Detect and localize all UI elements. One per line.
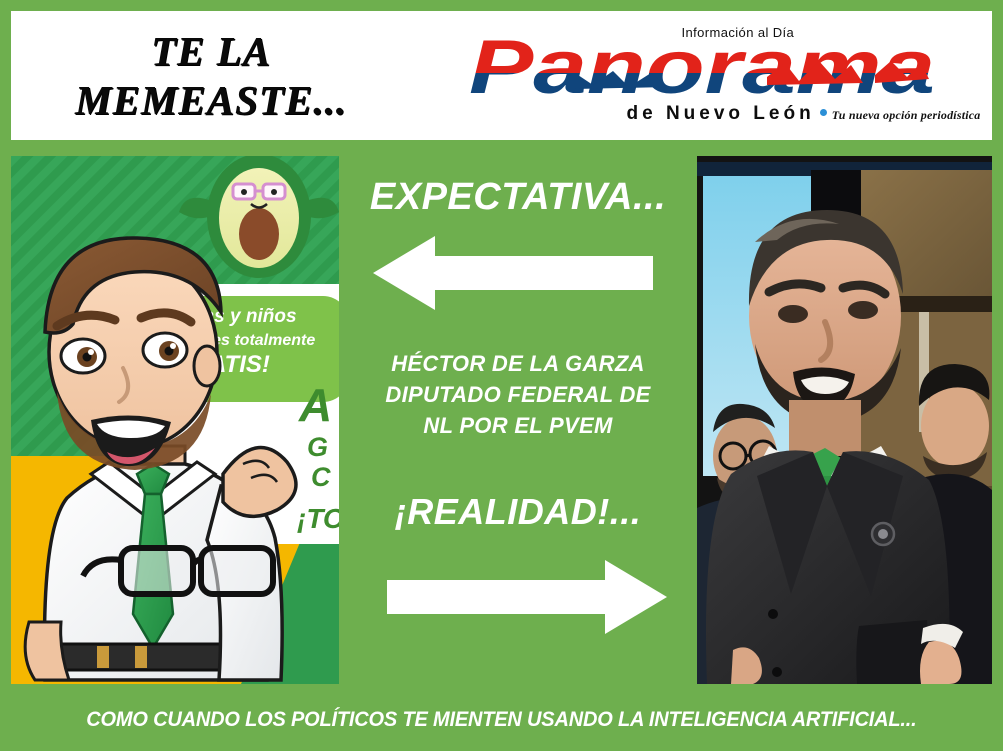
politician-name-line-1: HÉCTOR DE LA GARZA (340, 348, 696, 379)
meme-title-block: TE LA MEMEASTE... (11, 11, 411, 140)
right-image-panel (697, 156, 992, 684)
panorama-logo: Información al Día Panorama Panorama (411, 11, 992, 140)
expectativa-label: EXPECTATIVA... (340, 176, 696, 219)
politician-name-block: HÉCTOR DE LA GARZA DIPUTADO FEDERAL DE N… (340, 348, 696, 441)
brand-bullet-icon (820, 109, 827, 116)
left-image-panel: Niñas y niños ¡Lentes totalmente GRATIS!… (11, 156, 339, 684)
svg-text:¡TO: ¡TO (297, 503, 339, 534)
arrow-right-icon (387, 560, 667, 634)
brand-subline: de Nuevo León Tu nueva opción periodísti… (627, 103, 981, 125)
svg-text:C: C (311, 462, 331, 492)
brand-slogan: Tu nueva opción periodística (832, 108, 981, 123)
arrow-left-icon (373, 236, 653, 310)
svg-text:G: G (307, 432, 328, 462)
meme-body: Niñas y niños ¡Lentes totalmente GRATIS!… (0, 148, 1003, 688)
header-bar: TE LA MEMEASTE... Información al Día Pan… (11, 11, 992, 140)
center-text-column: EXPECTATIVA... HÉCTOR DE LA GARZA DIPUTA… (340, 148, 696, 688)
politician-name-line-2: DIPUTADO FEDERAL DE (340, 379, 696, 410)
bottom-caption-bar: COMO CUANDO LOS POLÍTICOS TE MIENTEN USA… (0, 688, 1003, 751)
brand-region: de Nuevo León (627, 103, 815, 125)
meme-image: TE LA MEMEASTE... Información al Día Pan… (0, 0, 1003, 751)
meme-title-line-1: TE LA (151, 28, 271, 75)
svg-text:A: A (298, 379, 332, 431)
meme-title-line-2: MEMEASTE... (75, 77, 347, 124)
brand-wordmark: Panorama Panorama (467, 33, 937, 105)
bottom-caption-text: COMO CUANDO LOS POLÍTICOS TE MIENTEN USA… (86, 707, 916, 732)
realidad-label: ¡REALIDAD!... (340, 491, 696, 533)
politician-name-line-3: NL POR EL PVEM (340, 410, 696, 441)
